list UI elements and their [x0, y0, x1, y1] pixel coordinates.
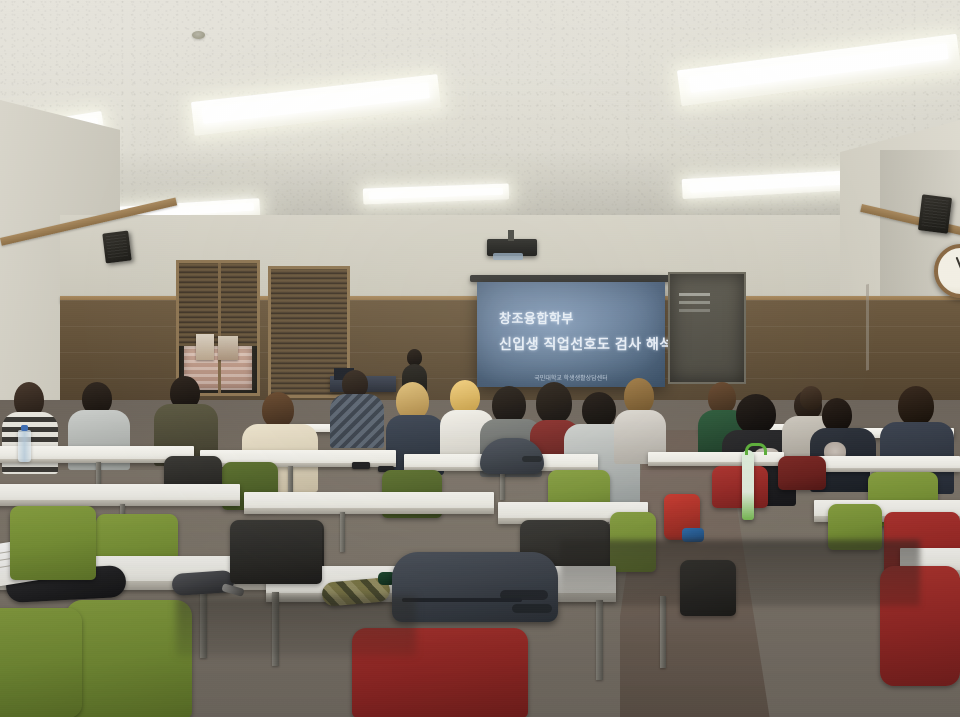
- board-writing: [679, 293, 710, 296]
- chair: [712, 466, 768, 508]
- backpack: [392, 552, 558, 622]
- chair: [230, 520, 322, 584]
- student-head: [898, 386, 934, 426]
- desk-edge: [648, 462, 784, 466]
- backpack: [480, 438, 544, 474]
- backpack-zipper: [402, 598, 522, 602]
- chair: [0, 608, 82, 717]
- desk-leg: [340, 512, 345, 552]
- backpack-strap: [522, 456, 542, 462]
- student-head: [822, 398, 852, 432]
- projector-lens: [493, 253, 523, 260]
- chair: [778, 456, 826, 490]
- projector-screen: 창조융합학부 신입생 직업선호도 검사 해석 국민대학교 학생생활상담센터: [477, 282, 665, 387]
- student-head: [262, 392, 294, 428]
- lamp-tube: [369, 187, 504, 199]
- wall-poster: [218, 336, 238, 360]
- student-head: [450, 380, 480, 414]
- wall-speaker: [918, 194, 952, 233]
- under-desk-shadow: [176, 596, 416, 656]
- desk-leg: [660, 596, 666, 668]
- student-head: [582, 392, 616, 428]
- wall-poster: [196, 334, 214, 360]
- desk: [0, 484, 240, 506]
- smartphone: [352, 462, 370, 469]
- student-head: [536, 382, 572, 424]
- smoke-detector: [192, 31, 205, 39]
- board-frame-right: [866, 267, 935, 370]
- clock-minute-hand: [955, 257, 960, 271]
- standing-umbrella-green: [742, 450, 754, 520]
- desk: [244, 492, 494, 514]
- water-bottle: [18, 430, 31, 462]
- window-mullion: [218, 263, 221, 393]
- classroom-photo: 창조융합학부 신입생 직업선호도 검사 해석 국민대학교 학생생활상담센터: [0, 0, 960, 717]
- backpack-strap: [512, 604, 552, 613]
- wall-speaker: [102, 231, 131, 264]
- student-head: [736, 394, 776, 434]
- whiteboard: [668, 272, 746, 384]
- desk-leg: [288, 466, 293, 494]
- projector-screen-housing: [470, 275, 670, 282]
- student-head: [800, 386, 822, 410]
- slide-footer: 국민대학교 학생생활상담센터: [534, 373, 607, 382]
- student-head: [624, 378, 654, 414]
- slide-title-line-2: 신입생 직업선호도 검사 해석: [499, 334, 673, 354]
- bottle-cap: [21, 425, 28, 431]
- umbrella-handle: [745, 443, 767, 455]
- desk-edge: [244, 508, 494, 514]
- chair: [10, 506, 96, 580]
- chair: [66, 600, 192, 717]
- projector-mount: [508, 230, 514, 241]
- slide-title-line-1: 창조융합학부: [499, 308, 574, 327]
- desk-leg: [596, 600, 603, 680]
- student-body: [330, 394, 384, 448]
- desk-leg: [500, 470, 505, 500]
- under-desk-shadow: [560, 540, 920, 606]
